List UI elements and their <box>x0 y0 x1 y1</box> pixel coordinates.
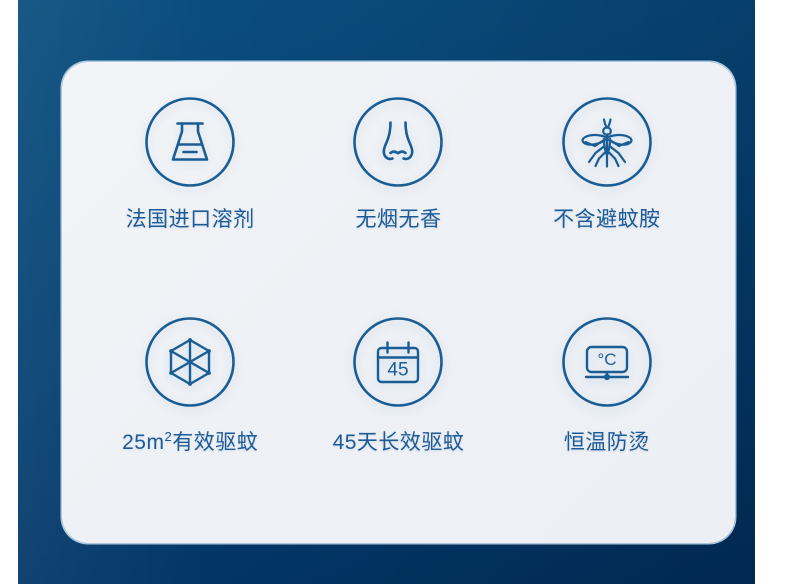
feature-label-text: 不含避蚊胺 <box>553 208 661 231</box>
feature-label: 法国进口溶剂 <box>126 209 255 230</box>
feature-item-smokeless: 无烟无香 <box>294 96 502 306</box>
feature-label: 无烟无香 <box>355 209 441 230</box>
thermostat-icon: °C <box>561 316 653 408</box>
calendar-45-icon: 45 <box>352 316 444 408</box>
feature-item-deet-free: 不含避蚊胺 <box>503 96 711 306</box>
feature-card: 法国进口溶剂 无烟无香 <box>62 62 735 543</box>
feature-label: 25m2有效驱蚊 <box>122 432 258 453</box>
mosquito-icon <box>561 96 653 188</box>
temperature-unit-text: °C <box>597 350 616 369</box>
feature-grid: 法国进口溶剂 无烟无香 <box>62 62 735 543</box>
feature-label: 45天长效驱蚊 <box>333 432 465 453</box>
feature-label-text: 恒温防烫 <box>564 431 650 454</box>
feature-label-text: 无烟无香 <box>355 208 441 231</box>
feature-label-text: 法国进口溶剂 <box>126 208 255 231</box>
flask-icon <box>144 96 236 188</box>
hexagon-cube-icon <box>144 316 236 408</box>
feature-label: 恒温防烫 <box>564 432 650 453</box>
calendar-day-number: 45 <box>388 359 409 380</box>
feature-item-duration-45-days: 45 45天长效驱蚊 <box>294 306 502 516</box>
feature-label-text: 45天长效驱蚊 <box>333 431 465 454</box>
feature-label-prefix: 25m <box>122 431 164 454</box>
feature-item-imported-solvent: 法国进口溶剂 <box>86 96 294 306</box>
feature-item-anti-scald: °C 恒温防烫 <box>503 306 711 516</box>
nose-icon <box>352 96 444 188</box>
feature-item-coverage-area: 25m2有效驱蚊 <box>86 306 294 516</box>
feature-label-text: 有效驱蚊 <box>172 431 258 454</box>
promo-feature-panel: 法国进口溶剂 无烟无香 <box>0 0 790 584</box>
feature-label: 不含避蚊胺 <box>553 209 661 230</box>
